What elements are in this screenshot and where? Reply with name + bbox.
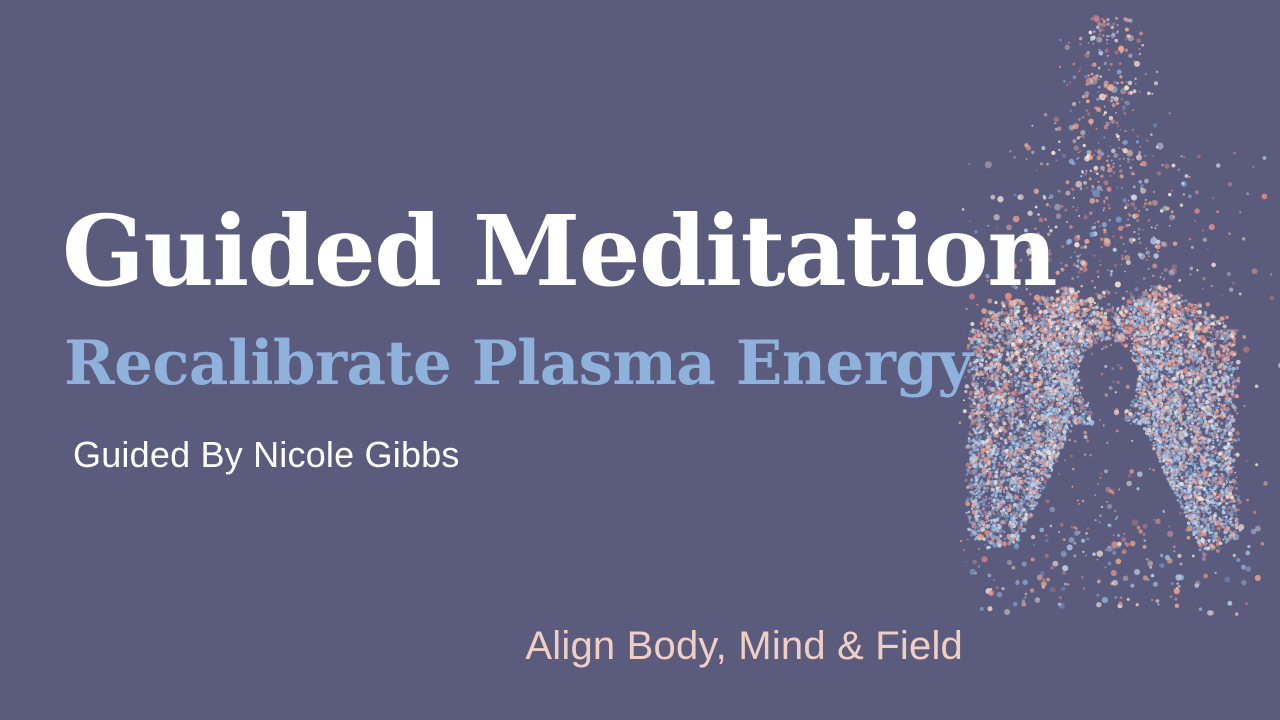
- byline-text: Guided By Nicole Gibbs: [73, 437, 460, 473]
- tagline-text: Align Body, Mind & Field: [525, 626, 963, 666]
- slide-text-block: Guided Meditation Recalibrate Plasma Ene…: [0, 0, 1000, 720]
- presentation-slide: Guided Meditation Recalibrate Plasma Ene…: [0, 0, 1280, 720]
- page-title: Guided Meditation: [62, 203, 1056, 300]
- page-subtitle: Recalibrate Plasma Energy: [64, 333, 972, 394]
